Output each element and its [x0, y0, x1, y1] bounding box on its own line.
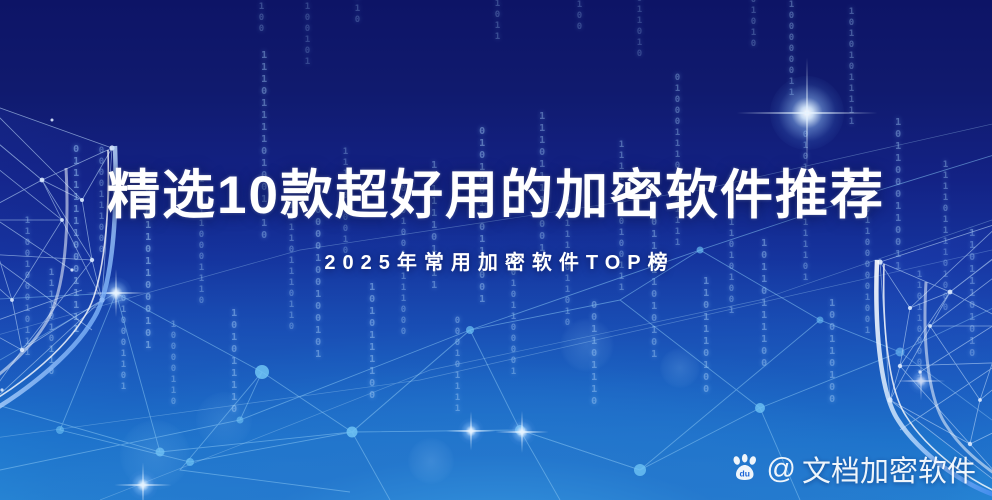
page-subtitle: 2025年常用加密软件TOP榜	[0, 246, 992, 275]
watermark: du @ 文档加密软件	[729, 448, 976, 490]
headline-block: 精选10款超好用的加密软件推荐 2025年常用加密软件TOP榜	[0, 168, 992, 275]
at-symbol: @	[767, 453, 796, 486]
watermark-account-name: 文档加密软件	[802, 448, 976, 490]
baidu-paw-icon: du	[729, 453, 761, 485]
baidu-paw-label: du	[739, 469, 749, 479]
page-title: 精选10款超好用的加密软件推荐	[0, 168, 992, 224]
banner-canvas: 1100100010111111101011001111111000111110…	[0, 0, 992, 500]
